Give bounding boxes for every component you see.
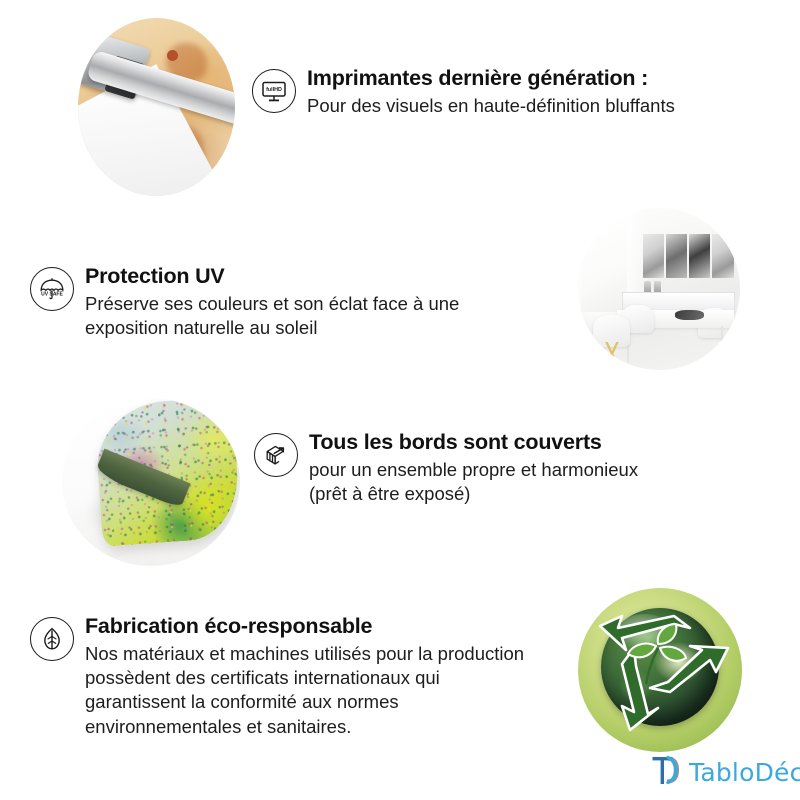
feature-title: Imprimantes dernière génération :: [307, 66, 675, 91]
fullhd-monitor-icon: fullHD: [252, 69, 296, 113]
feature-print-quality: fullHD Imprimantes dernière génération :…: [252, 66, 675, 118]
feature-title: Protection UV: [85, 264, 459, 289]
eco-globe-recycle-photo: [578, 588, 742, 752]
td-monogram-icon: [648, 752, 682, 793]
brand-logo[interactable]: TabloDéco ™ .fr: [648, 752, 800, 793]
svg-text:fullHD: fullHD: [266, 87, 282, 93]
feature-description: Nos matériaux et machines utilisés pour …: [85, 642, 524, 738]
svg-text:UV SAFE: UV SAFE: [41, 292, 63, 298]
leaf-icon: [30, 617, 74, 661]
feature-eco-manufacturing: Fabrication éco-responsable Nos matériau…: [30, 614, 524, 739]
uv-safe-umbrella-icon: UV SAFE: [30, 267, 74, 311]
brand-name: TabloDéco: [689, 760, 800, 785]
bright-interior-room-photo: [578, 208, 740, 370]
feature-description: pour un ensemble propre et harmonieux (p…: [309, 458, 638, 506]
printer-head-world-map-photo: [78, 18, 235, 196]
canvas-corner-photo: [62, 398, 240, 566]
feature-title: Tous les bords sont couverts: [309, 430, 638, 455]
feature-description: Pour des visuels en haute-définition blu…: [307, 94, 675, 118]
wrapped-edges-icon: [254, 433, 298, 477]
feature-description: Préserve ses couleurs et son éclat face …: [85, 292, 459, 340]
feature-title: Fabrication éco-responsable: [85, 614, 524, 639]
feature-uv-protection: UV SAFE Protection UV Préserve ses coule…: [30, 264, 459, 340]
brand-wordmark: TabloDéco ™ .fr: [689, 760, 800, 785]
infographic-page: fullHD Imprimantes dernière génération :…: [0, 0, 800, 800]
feature-covered-edges: Tous les bords sont couverts pour un ens…: [254, 430, 638, 506]
